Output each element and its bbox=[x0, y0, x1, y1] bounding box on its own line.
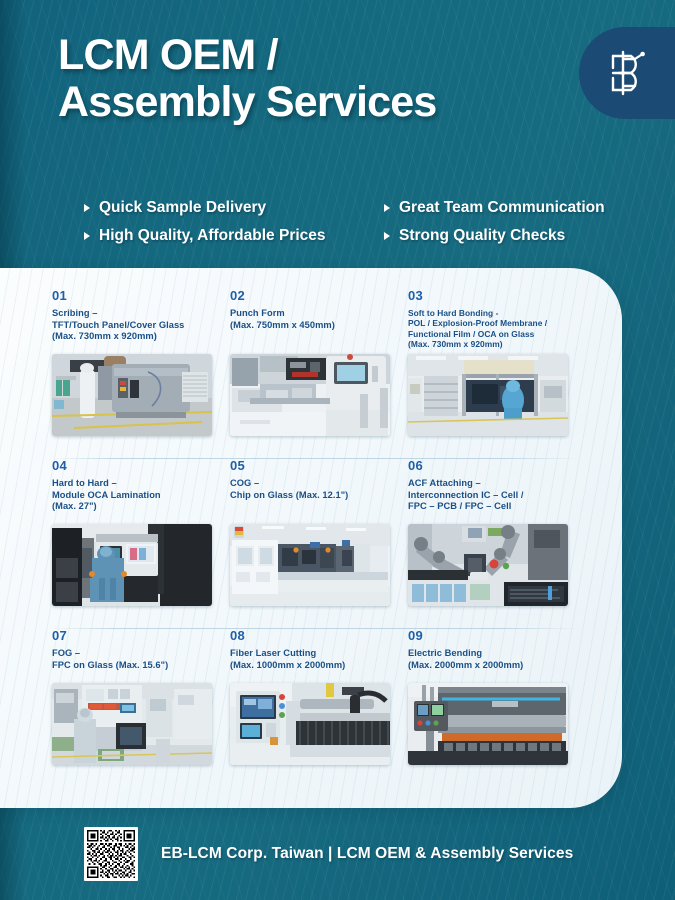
feature-bullet: High Quality, Affordable Prices bbox=[84, 222, 384, 250]
services-row: 04 Hard to Hard – Module OCA Lamination … bbox=[0, 458, 622, 628]
footer-company-text: EB-LCM Corp. Taiwan | LCM OEM & Assembly… bbox=[161, 845, 573, 863]
triangle-bullet-icon bbox=[384, 232, 390, 240]
qr-code[interactable] bbox=[84, 827, 138, 881]
feature-bullet-label: Great Team Communication bbox=[399, 199, 605, 217]
service-description: Fiber Laser Cutting (Max. 1000mm x 2000m… bbox=[230, 648, 408, 671]
service-number: 08 bbox=[230, 628, 408, 643]
service-number: 01 bbox=[52, 288, 230, 303]
services-panel: 01 Scribing – TFT/Touch Panel/Cover Glas… bbox=[0, 268, 622, 808]
eb-logo-icon bbox=[605, 48, 649, 98]
feature-bullet-label: Strong Quality Checks bbox=[399, 227, 565, 245]
service-description: Electric Bending (Max. 2000mm x 2000mm) bbox=[408, 648, 586, 671]
service-card-03[interactable]: 03 Soft to Hard Bonding - POL / Explosio… bbox=[408, 288, 586, 458]
service-number: 06 bbox=[408, 458, 586, 473]
service-card-05[interactable]: 05 COG – Chip on Glass (Max. 12.1") bbox=[230, 458, 408, 628]
service-card-09[interactable]: 09 Electric Bending (Max. 2000mm x 2000m… bbox=[408, 628, 586, 798]
service-thumbnail[interactable] bbox=[52, 524, 212, 606]
header: LCM OEM / Assembly Services bbox=[0, 0, 675, 268]
feature-bullet-label: High Quality, Affordable Prices bbox=[99, 227, 326, 245]
service-card-01[interactable]: 01 Scribing – TFT/Touch Panel/Cover Glas… bbox=[52, 288, 230, 458]
service-number: 03 bbox=[408, 288, 586, 303]
feature-bullet: Strong Quality Checks bbox=[384, 222, 659, 250]
service-card-06[interactable]: 06 ACF Attaching – Interconnection IC – … bbox=[408, 458, 586, 628]
feature-bullet-label: Quick Sample Delivery bbox=[99, 199, 266, 217]
service-number: 04 bbox=[52, 458, 230, 473]
triangle-bullet-icon bbox=[84, 232, 90, 240]
service-number: 02 bbox=[230, 288, 408, 303]
page-title-line-2: Assembly Services bbox=[58, 79, 578, 126]
service-thumbnail[interactable] bbox=[408, 354, 568, 436]
service-description: FOG – FPC on Glass (Max. 15.6") bbox=[52, 648, 230, 671]
service-description: ACF Attaching – Interconnection IC – Cel… bbox=[408, 478, 586, 513]
services-row: 01 Scribing – TFT/Touch Panel/Cover Glas… bbox=[0, 288, 622, 458]
service-thumbnail[interactable] bbox=[230, 683, 390, 765]
page-title-line-1: LCM OEM / bbox=[58, 32, 578, 79]
service-number: 07 bbox=[52, 628, 230, 643]
service-thumbnail[interactable] bbox=[408, 524, 568, 606]
service-card-04[interactable]: 04 Hard to Hard – Module OCA Lamination … bbox=[52, 458, 230, 628]
service-thumbnail[interactable] bbox=[408, 683, 568, 765]
service-card-02[interactable]: 02 Punch Form (Max. 750mm x 450mm) bbox=[230, 288, 408, 458]
feature-bullet: Quick Sample Delivery bbox=[84, 194, 384, 222]
service-thumbnail[interactable] bbox=[230, 524, 390, 606]
logo-badge bbox=[579, 27, 675, 119]
service-thumbnail[interactable] bbox=[230, 354, 390, 436]
service-card-07[interactable]: 07 FOG – FPC on Glass (Max. 15.6") bbox=[52, 628, 230, 798]
service-thumbnail[interactable] bbox=[52, 354, 212, 436]
services-row: 07 FOG – FPC on Glass (Max. 15.6") bbox=[0, 628, 622, 798]
poster-page: LCM OEM / Assembly Services bbox=[0, 0, 675, 900]
service-description: Scribing – TFT/Touch Panel/Cover Glass (… bbox=[52, 308, 230, 343]
service-description: COG – Chip on Glass (Max. 12.1") bbox=[230, 478, 408, 501]
feature-bullet: Great Team Communication bbox=[384, 194, 659, 222]
service-description: Punch Form (Max. 750mm x 450mm) bbox=[230, 308, 408, 331]
triangle-bullet-icon bbox=[84, 204, 90, 212]
service-description: Hard to Hard – Module OCA Lamination (Ma… bbox=[52, 478, 230, 513]
feature-bullet-list: Quick Sample Delivery Great Team Communi… bbox=[84, 194, 659, 250]
service-number: 09 bbox=[408, 628, 586, 643]
service-thumbnail[interactable] bbox=[52, 683, 212, 765]
service-description: Soft to Hard Bonding - POL / Explosion-P… bbox=[408, 308, 586, 350]
footer: EB-LCM Corp. Taiwan | LCM OEM & Assembly… bbox=[0, 808, 675, 900]
page-title: LCM OEM / Assembly Services bbox=[58, 32, 578, 126]
triangle-bullet-icon bbox=[384, 204, 390, 212]
services-grid: 01 Scribing – TFT/Touch Panel/Cover Glas… bbox=[0, 268, 622, 808]
service-number: 05 bbox=[230, 458, 408, 473]
service-card-08[interactable]: 08 Fiber Laser Cutting (Max. 1000mm x 20… bbox=[230, 628, 408, 798]
